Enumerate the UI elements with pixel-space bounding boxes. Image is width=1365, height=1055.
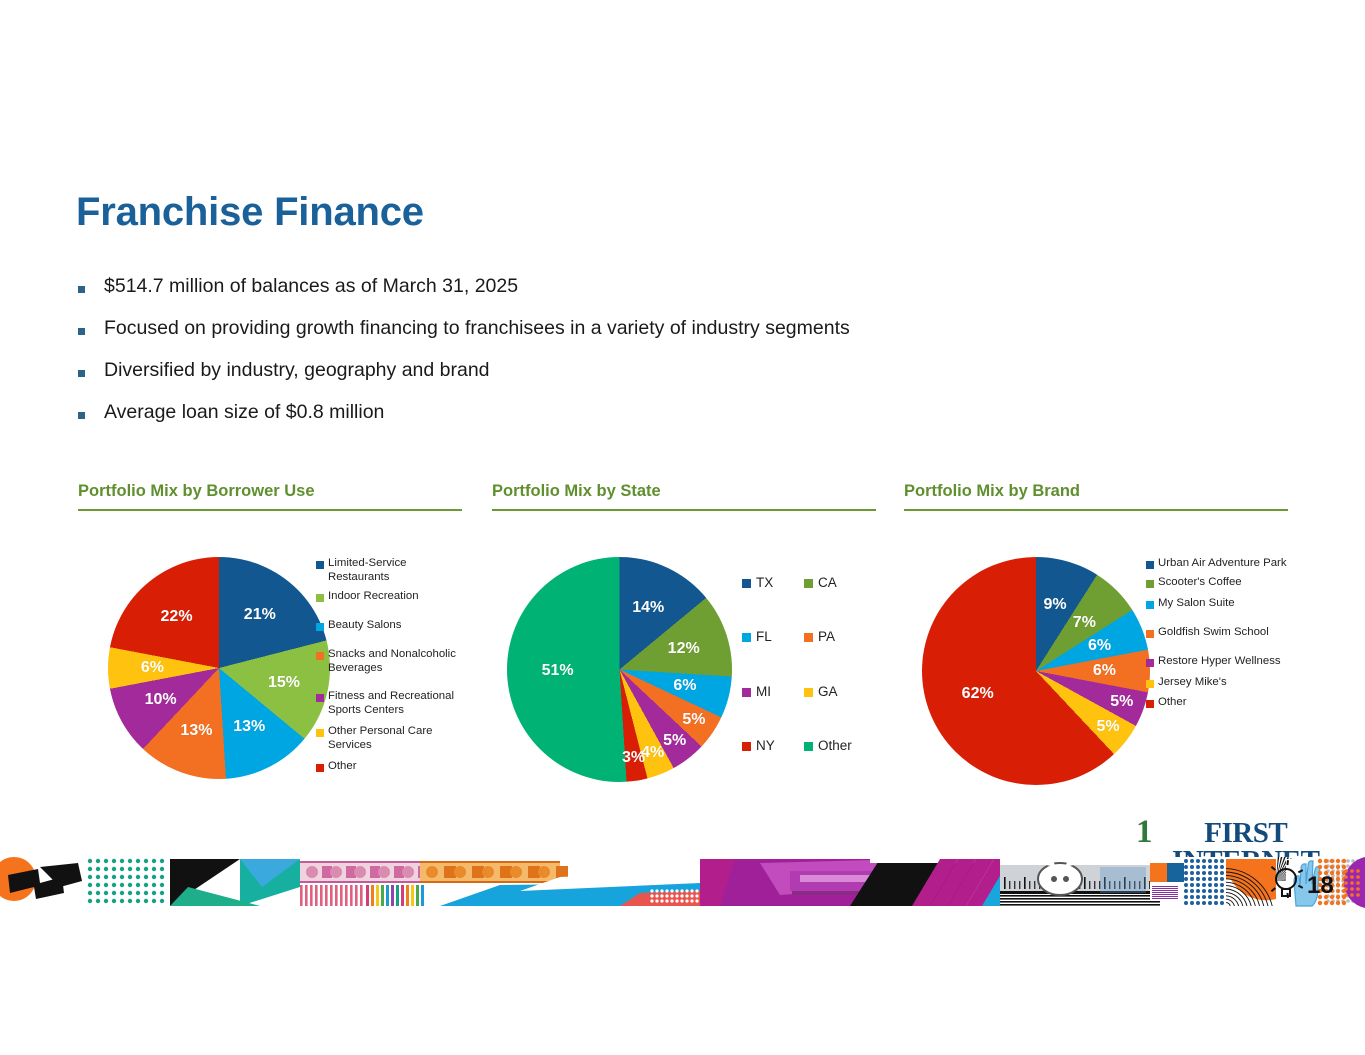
legend-label: NY	[756, 738, 775, 754]
chart-title: Portfolio Mix by Brand	[904, 482, 1288, 509]
pie-slice-label: 14%	[632, 599, 664, 617]
decorative-footer-band	[0, 857, 1365, 908]
legend-label: Other	[1158, 696, 1187, 710]
legend-item[interactable]: Goldfish Swim School	[1146, 626, 1296, 640]
legend-label: MI	[756, 684, 771, 700]
logo-numeral-one: 1	[1136, 818, 1151, 848]
legend-label: Beauty Salons	[328, 619, 401, 633]
pie-slice-label: 5%	[663, 732, 686, 750]
legend-item[interactable]: MI	[742, 684, 804, 700]
pie-slice-label: 12%	[668, 640, 700, 658]
legend-label: Restore Hyper Wellness	[1158, 655, 1281, 669]
bullet-square-icon	[78, 328, 85, 335]
legend-swatch-icon	[804, 742, 813, 751]
legend-item[interactable]: GA	[804, 684, 866, 700]
legend-item[interactable]: Limited-Service Restaurants	[316, 557, 466, 585]
list-item: $514.7 million of balances as of March 3…	[78, 276, 1078, 318]
legend-swatch-icon	[1146, 580, 1154, 588]
list-item: Focused on providing growth financing to…	[78, 318, 1078, 360]
pie-slice-label: 13%	[233, 718, 265, 736]
pie-slice-label: 5%	[1110, 693, 1133, 711]
legend-swatch-icon	[316, 694, 324, 702]
legend-swatch-icon	[1146, 659, 1154, 667]
legend-item[interactable]: PA	[804, 629, 866, 645]
legend-label: FL	[756, 629, 772, 645]
pie-slice-label: 13%	[180, 722, 212, 740]
legend-swatch-icon	[742, 633, 751, 642]
legend-swatch-icon	[1146, 630, 1154, 638]
pie-slice-label: 6%	[673, 677, 696, 695]
list-item: Diversified by industry, geography and b…	[78, 360, 1078, 402]
chart-legend: Urban Air Adventure ParkScooter's Coffee…	[1146, 557, 1296, 727]
bullet-square-icon	[78, 412, 85, 419]
pie-slice-label: 5%	[1096, 718, 1119, 736]
legend-item[interactable]: Beauty Salons	[316, 619, 466, 633]
legend-swatch-icon	[742, 579, 751, 588]
legend-label: Snacks and Nonalcoholic Beverages	[328, 648, 466, 676]
bullet-list: $514.7 million of balances as of March 3…	[78, 276, 1078, 444]
legend-swatch-icon	[1146, 700, 1154, 708]
chart-panel-brand: Portfolio Mix by Brand 9%7%6%6%5%5%62% U…	[904, 482, 1288, 807]
list-item: Average loan size of $0.8 million	[78, 402, 1078, 444]
pie-slice-label: 6%	[141, 659, 164, 677]
bullet-text: Average loan size of $0.8 million	[104, 402, 384, 423]
bullet-text: Focused on providing growth financing to…	[104, 318, 850, 339]
pie-slice-label: 6%	[1093, 662, 1116, 680]
legend-label: Other	[818, 738, 852, 754]
legend-label: Indoor Recreation	[328, 590, 419, 604]
legend-swatch-icon	[804, 688, 813, 697]
pie-slice-label: 15%	[268, 674, 300, 692]
legend-swatch-icon	[742, 742, 751, 751]
chart-area: 14%12%6%5%5%4%3%51% TXCAFLPAMIGANYOther	[492, 557, 876, 807]
legend-item[interactable]: Other Personal Care Services	[316, 725, 466, 753]
legend-item[interactable]: Urban Air Adventure Park	[1146, 557, 1296, 571]
legend-swatch-icon	[804, 579, 813, 588]
legend-item[interactable]: TX	[742, 575, 804, 591]
legend-swatch-icon	[316, 561, 324, 569]
pie-slice-label: 10%	[145, 691, 177, 709]
legend-label: My Salon Suite	[1158, 597, 1235, 611]
legend-item[interactable]: Snacks and Nonalcoholic Beverages	[316, 648, 466, 676]
chart-title: Portfolio Mix by State	[492, 482, 876, 509]
legend-label: Scooter's Coffee	[1158, 576, 1242, 590]
bullet-text: $514.7 million of balances as of March 3…	[104, 276, 518, 297]
slide: Franchise Finance $514.7 million of bala…	[0, 0, 1365, 1055]
legend-item[interactable]: Other	[1146, 696, 1296, 710]
pie-slice-label: 9%	[1044, 596, 1067, 614]
pie-slice-label: 62%	[962, 685, 994, 703]
pie-slice-label: 7%	[1073, 614, 1096, 632]
chart-panel-borrower-use: Portfolio Mix by Borrower Use 21%15%13%1…	[78, 482, 462, 807]
chart-title-rule	[904, 509, 1288, 511]
legend-label: Other	[328, 760, 357, 774]
pie-slice-label: 3%	[622, 749, 645, 767]
bullet-square-icon	[78, 370, 85, 377]
legend-swatch-icon	[316, 729, 324, 737]
legend-item[interactable]: Other	[804, 738, 866, 754]
legend-swatch-icon	[316, 594, 324, 602]
legend-item[interactable]: Scooter's Coffee	[1146, 576, 1296, 590]
legend-label: Goldfish Swim School	[1158, 626, 1269, 640]
chart-area: 9%7%6%6%5%5%62% Urban Air Adventure Park…	[904, 557, 1288, 807]
legend-label: Jersey Mike's	[1158, 676, 1227, 690]
chart-title: Portfolio Mix by Borrower Use	[78, 482, 462, 509]
legend-item[interactable]: CA	[804, 575, 866, 591]
legend-swatch-icon	[1146, 601, 1154, 609]
page-title: Franchise Finance	[76, 190, 424, 235]
bullet-square-icon	[78, 286, 85, 293]
chart-area: 21%15%13%13%10%6%22% Limited-Service Res…	[78, 557, 462, 807]
legend-label: GA	[818, 684, 838, 700]
legend-swatch-icon	[316, 652, 324, 660]
footer-collage-graphic	[0, 857, 1365, 908]
chart-title-rule	[492, 509, 876, 511]
legend-label: Limited-Service Restaurants	[328, 557, 466, 585]
legend-item[interactable]: Fitness and Recreational Sports Centers	[316, 690, 466, 718]
legend-item[interactable]: Jersey Mike's	[1146, 676, 1296, 690]
bullet-text: Diversified by industry, geography and b…	[104, 360, 490, 381]
legend-item[interactable]: NY	[742, 738, 804, 754]
legend-swatch-icon	[316, 764, 324, 772]
legend-label: CA	[818, 575, 837, 591]
legend-label: PA	[818, 629, 835, 645]
legend-swatch-icon	[1146, 561, 1154, 569]
legend-label: Other Personal Care Services	[328, 725, 466, 753]
legend-swatch-icon	[316, 623, 324, 631]
pie-slice-label: 51%	[542, 662, 574, 680]
pie-slice-label: 5%	[682, 711, 705, 729]
legend-label: Fitness and Recreational Sports Centers	[328, 690, 466, 718]
legend-item[interactable]: Indoor Recreation	[316, 590, 466, 604]
legend-swatch-icon	[1146, 680, 1154, 688]
legend-item[interactable]: Restore Hyper Wellness	[1146, 655, 1296, 669]
legend-swatch-icon	[804, 633, 813, 642]
page-number: 18	[1307, 872, 1334, 900]
pie-slice-label: 21%	[244, 606, 276, 624]
legend-label: TX	[756, 575, 773, 591]
pie-slice-label: 22%	[161, 608, 193, 626]
chart-legend: Limited-Service RestaurantsIndoor Recrea…	[316, 557, 466, 781]
chart-legend: TXCAFLPAMIGANYOther	[742, 575, 882, 755]
legend-item[interactable]: My Salon Suite	[1146, 597, 1296, 611]
pie-slice-label: 6%	[1088, 637, 1111, 655]
chart-panel-state: Portfolio Mix by State 14%12%6%5%5%4%3%5…	[492, 482, 876, 807]
legend-item[interactable]: Other	[316, 760, 466, 774]
legend-item[interactable]: FL	[742, 629, 804, 645]
legend-grid: TXCAFLPAMIGANYOther	[742, 575, 882, 755]
legend-label: Urban Air Adventure Park	[1158, 557, 1287, 571]
legend-swatch-icon	[742, 688, 751, 697]
chart-title-rule	[78, 509, 462, 511]
